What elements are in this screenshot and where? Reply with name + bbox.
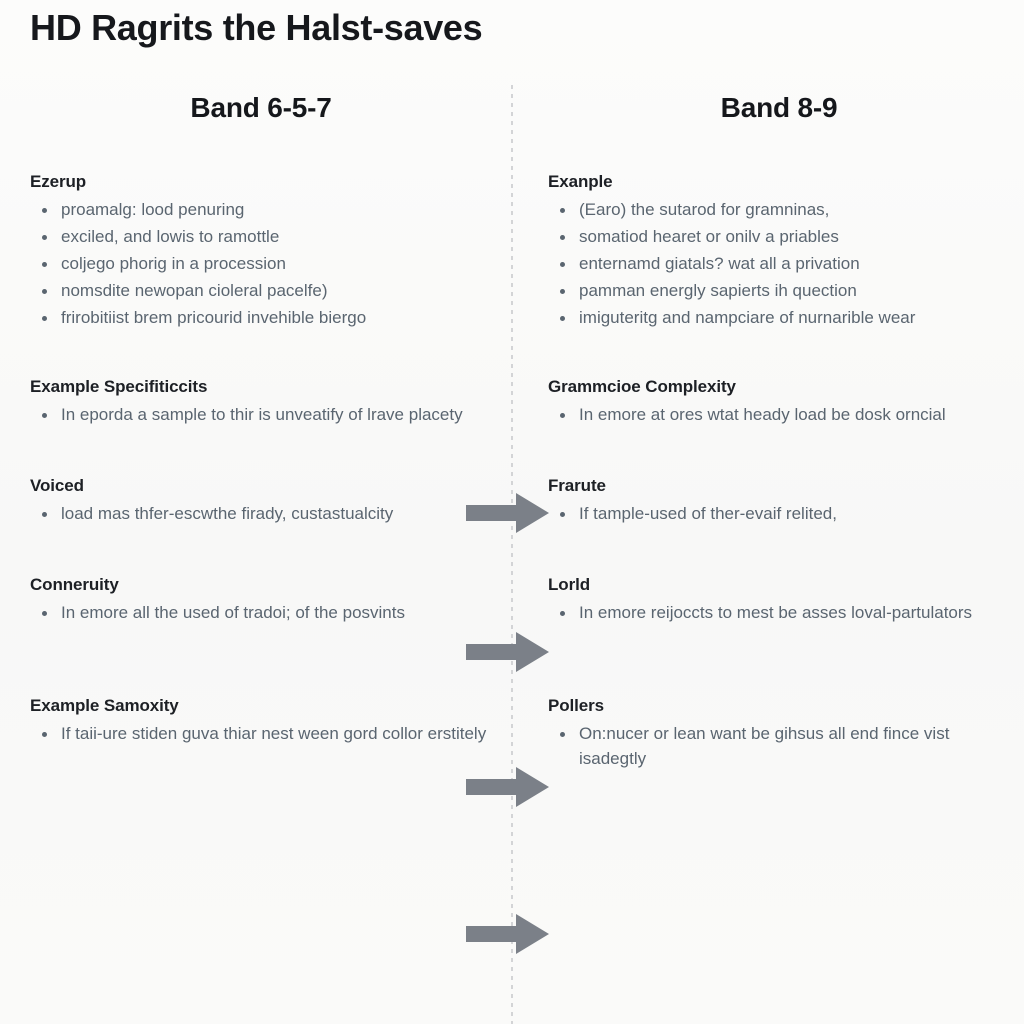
list-item: load mas thfer-escwthe firady, custastua… [30,502,492,527]
section-title-right-0: Exanple [548,172,1010,192]
bullet-list-right-3: In emore reijoccts to mest be asses lova… [548,601,1010,626]
list-item: In emore reijoccts to mest be asses lova… [548,601,1010,626]
list-item: On:nucer or lean want be gihsus all end … [548,722,1010,772]
list-item: If taii-ure stiden guva thiar nest ween … [30,722,492,747]
section-left-2: Voiced load mas thfer-escwthe firady, cu… [30,476,492,527]
list-item: somatiod hearet or onilv a priables [548,225,1010,250]
section-left-0: Ezerup proamalg: lood penuring exciled, … [30,172,492,331]
bullet-list-left-0: proamalg: lood penuring exciled, and low… [30,198,492,331]
list-item: proamalg: lood penuring [30,198,492,223]
bullet-list-left-2: load mas thfer-escwthe firady, custastua… [30,502,492,527]
section-title-right-1: Grammcioe Complexity [548,377,1010,397]
bullet-list-left-1: In eporda a sample to thir is unveatify … [30,403,492,428]
section-title-right-4: Pollers [548,696,1010,716]
bullet-list-right-4: On:nucer or lean want be gihsus all end … [548,722,1010,772]
list-item: nomsdite newopan cioleral pacelfe) [30,279,492,304]
section-title-left-2: Voiced [30,476,492,496]
list-item: coljego phorig in a procession [30,252,492,277]
list-item: imiguteritg and nampciare of nurnarible … [548,306,1010,331]
bullet-list-right-0: (Earo) the sutarod for gramninas, somati… [548,198,1010,331]
list-item: frirobitiist brem pricourid invehible bi… [30,306,492,331]
section-right-3: Lorld In emore reijoccts to mest be asse… [548,575,1010,626]
right-arrow-icon [466,913,550,955]
list-item: In emore at ores wtat heady load be dosk… [548,403,1010,428]
bullet-list-right-2: If tample-used of ther-evaif relited, [548,502,1010,527]
list-item: pamman energly sapierts ih quection [548,279,1010,304]
list-item: In eporda a sample to thir is unveatify … [30,403,492,428]
section-title-left-0: Ezerup [30,172,492,192]
bullet-list-right-1: In emore at ores wtat heady load be dosk… [548,403,1010,428]
section-title-right-2: Frarute [548,476,1010,496]
column-header-right: Band 8-9 [548,92,1010,124]
section-right-4: Pollers On:nucer or lean want be gihsus … [548,696,1010,772]
right-arrow-icon [466,492,550,534]
list-item: (Earo) the sutarod for gramninas, [548,198,1010,223]
bullet-list-left-3: In emore all the used of tradoi; of the … [30,601,492,626]
section-right-1: Grammcioe Complexity In emore at ores wt… [548,377,1010,428]
section-left-3: Conneruity In emore all the used of trad… [30,575,492,626]
section-right-0: Exanple (Earo) the sutarod for gramninas… [548,172,1010,331]
section-right-2: Frarute If tample-used of ther-evaif rel… [548,476,1010,527]
page-title: HD Ragrits the Halst-saves [30,5,990,50]
list-item: In emore all the used of tradoi; of the … [30,601,492,626]
bullet-list-left-4: If taii-ure stiden guva thiar nest ween … [30,722,492,747]
list-item: exciled, and lowis to ramottle [30,225,492,250]
right-arrow-icon [466,631,550,673]
column-header-left: Band 6-5-7 [30,92,492,124]
column-band-6-5-7: Band 6-5-7 Ezerup proamalg: lood penurin… [30,92,492,749]
list-item: If tample-used of ther-evaif relited, [548,502,1010,527]
list-item: enternamd giatals? wat all a privation [548,252,1010,277]
section-title-right-3: Lorld [548,575,1010,595]
section-title-left-3: Conneruity [30,575,492,595]
column-band-8-9: Band 8-9 Exanple (Earo) the sutarod for … [548,92,1010,774]
section-title-left-4: Example Samoxity [30,696,492,716]
column-divider [511,85,513,1024]
right-arrow-icon [466,766,550,808]
section-left-4: Example Samoxity If taii-ure stiden guva… [30,696,492,747]
section-left-1: Example Specifiticcits In eporda a sampl… [30,377,492,428]
section-title-left-1: Example Specifiticcits [30,377,492,397]
